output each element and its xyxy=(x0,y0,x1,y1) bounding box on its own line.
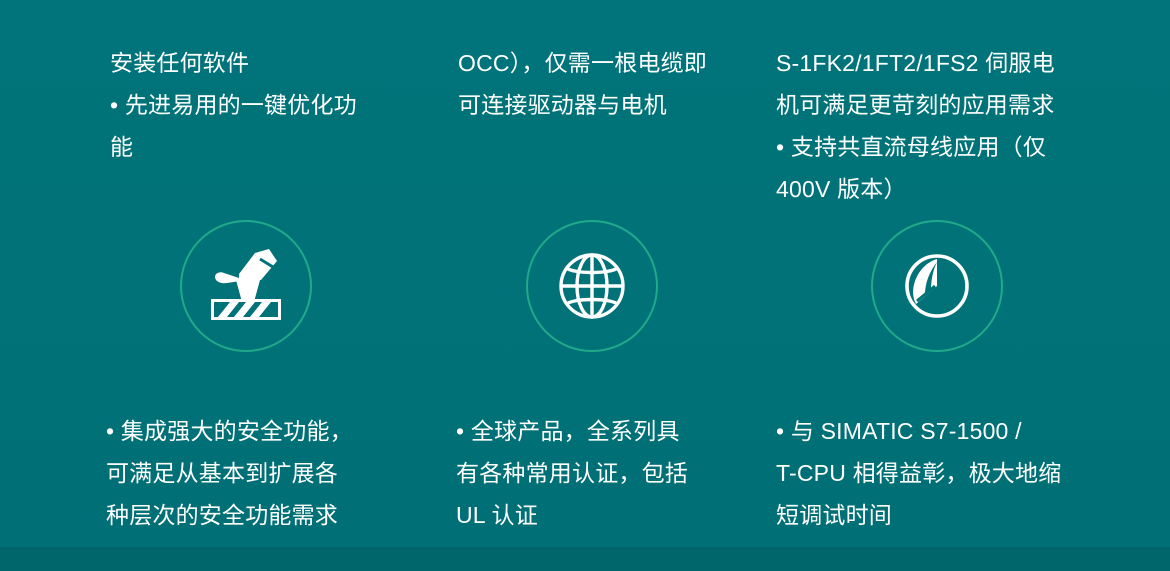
feature-caption-safety: • 集成强大的安全功能， 可满足从基本到扩展各 种层次的安全功能需求 xyxy=(106,368,416,571)
top-text-column-2-body: OCC），仅需一根电缆即 可连接驱动器与电机 xyxy=(458,42,748,126)
feature-caption-safety-body: • 集成强大的安全功能， 可满足从基本到扩展各 种层次的安全功能需求 xyxy=(106,410,416,536)
hand-pressing-safety-button-icon xyxy=(203,247,289,325)
globe-icon xyxy=(554,248,630,324)
top-text-column-3-body: S-1FK2/1FT2/1FS2 伺服电 机可满足更苛刻的应用需求 • 支持共直… xyxy=(776,42,1106,210)
feature-icon-badge-global xyxy=(526,220,658,352)
feature-caption-global: • 全球产品，全系列具 有各种常用认证，包括 UL 认证 xyxy=(456,368,746,571)
top-text-column-1: 安装任何软件 • 先进易用的一键优化功 能 xyxy=(110,0,430,210)
top-text-column-2: OCC），仅需一根电缆即 可连接驱动器与电机 xyxy=(458,0,748,168)
top-text-row: 安装任何软件 • 先进易用的一键优化功 能 OCC），仅需一根电缆即 可连接驱动… xyxy=(0,0,1170,200)
feature-caption-row: • 集成强大的安全功能， 可满足从基本到扩展各 种层次的安全功能需求 • 全球产… xyxy=(0,368,1170,538)
feature-icon-row xyxy=(0,220,1170,356)
feature-icon-badge-safety xyxy=(180,220,312,352)
top-text-column-1-body: 安装任何软件 • 先进易用的一键优化功 能 xyxy=(110,42,430,168)
feature-caption-commissioning: • 与 SIMATIC S7-1500 / T-CPU 相得益彰，极大地缩 短调… xyxy=(776,368,1126,571)
promo-banner: 安装任何软件 • 先进易用的一键优化功 能 OCC），仅需一根电缆即 可连接驱动… xyxy=(0,0,1170,571)
feature-icon-badge-commissioning xyxy=(871,220,1003,352)
clock-time-saving-icon xyxy=(901,250,973,322)
feature-caption-commissioning-body: • 与 SIMATIC S7-1500 / T-CPU 相得益彰，极大地缩 短调… xyxy=(776,410,1126,536)
top-text-column-3: S-1FK2/1FT2/1FS2 伺服电 机可满足更苛刻的应用需求 • 支持共直… xyxy=(776,0,1106,252)
feature-caption-global-body: • 全球产品，全系列具 有各种常用认证，包括 UL 认证 xyxy=(456,410,746,536)
bottom-band xyxy=(0,547,1170,571)
